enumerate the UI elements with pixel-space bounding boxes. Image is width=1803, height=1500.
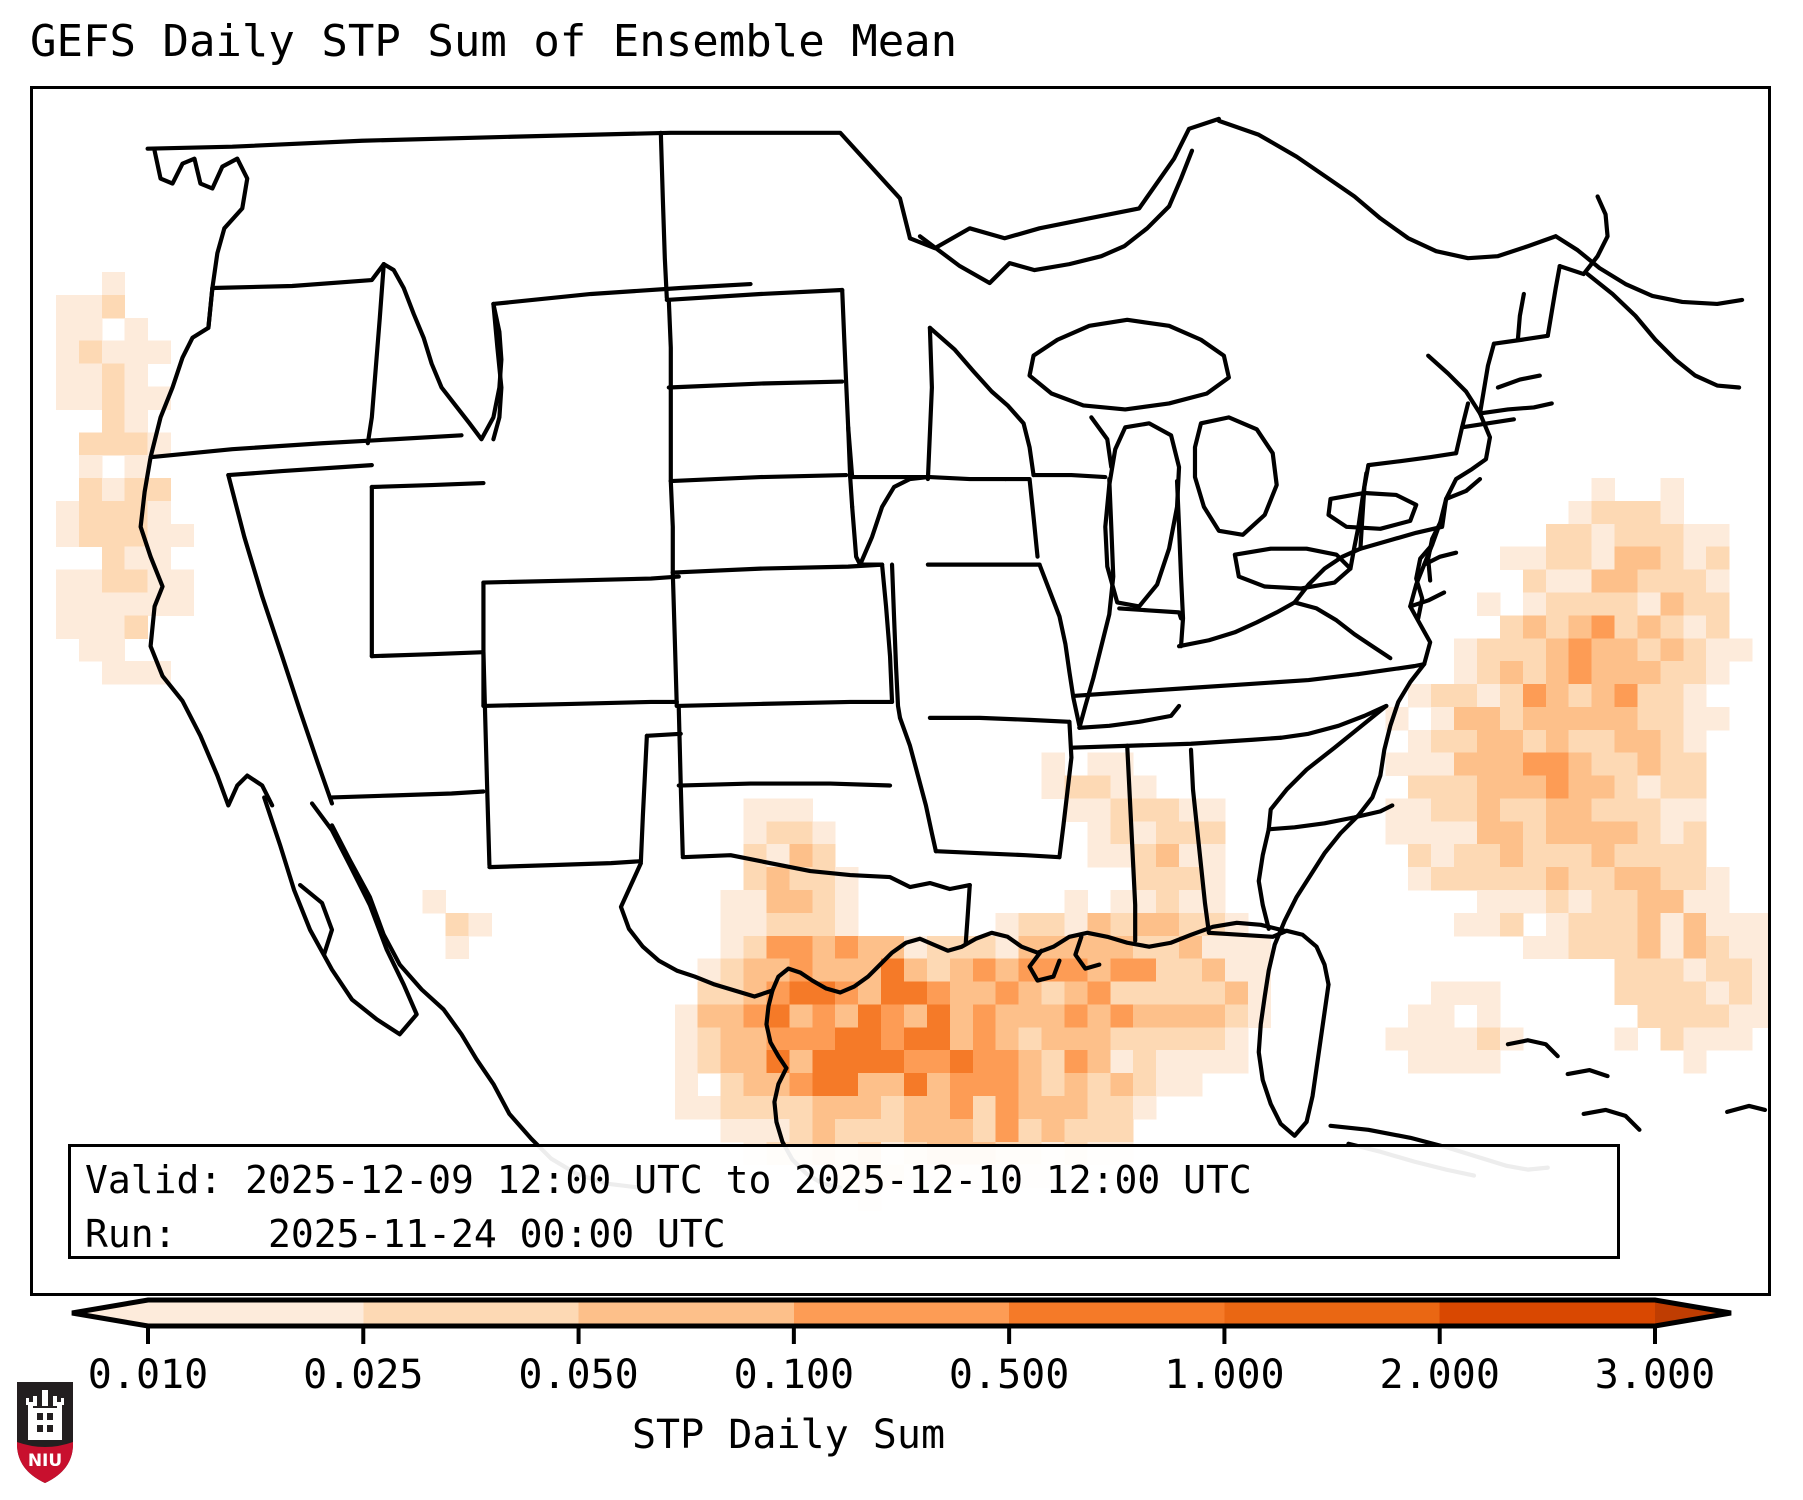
colorbar-segment xyxy=(1224,1300,1440,1326)
colorbar-tick-label: 2.000 xyxy=(1379,1352,1499,1398)
colorbar xyxy=(0,1296,1803,1356)
colorbar-tick-label: 0.010 xyxy=(88,1352,208,1398)
colorbar-tick-label: 0.025 xyxy=(303,1352,423,1398)
colorbar-segment xyxy=(794,1300,1010,1326)
colorbar-segment xyxy=(1440,1300,1656,1326)
colorbar-tick-label: 0.050 xyxy=(518,1352,638,1398)
colorbar-segment xyxy=(579,1300,795,1326)
colorbar-tick-labels: 0.0100.0250.0500.1000.5001.0002.0003.000 xyxy=(0,1352,1803,1404)
valid-run-info-box: Valid: 2025-12-09 12:00 UTC to 2025-12-1… xyxy=(68,1144,1620,1259)
colorbar-segment xyxy=(1009,1300,1225,1326)
niu-logo-text: NIU xyxy=(28,1451,62,1471)
colorbar-segment xyxy=(363,1300,579,1326)
colorbar-svg xyxy=(0,1296,1803,1356)
run-time-line: Run: 2025-11-24 00:00 UTC xyxy=(85,1207,1603,1261)
colorbar-tick-label: 1.000 xyxy=(1164,1352,1284,1398)
colorbar-segment xyxy=(148,1300,364,1326)
map-geography-layer xyxy=(33,89,1768,1293)
valid-time-line: Valid: 2025-12-09 12:00 UTC to 2025-12-1… xyxy=(85,1153,1603,1207)
colorbar-tick-label: 3.000 xyxy=(1595,1352,1715,1398)
niu-logo: NIU xyxy=(14,1378,76,1486)
map-plot-frame: Valid: 2025-12-09 12:00 UTC to 2025-12-1… xyxy=(30,86,1771,1296)
colorbar-title-text: STP Daily Sum xyxy=(632,1412,945,1458)
colorbar-tick-label: 0.100 xyxy=(734,1352,854,1398)
colorbar-tick-label: 0.500 xyxy=(949,1352,1069,1398)
colorbar-title: STP Daily Sum xyxy=(0,1412,1803,1458)
page-title: GEFS Daily STP Sum of Ensemble Mean xyxy=(30,16,957,67)
